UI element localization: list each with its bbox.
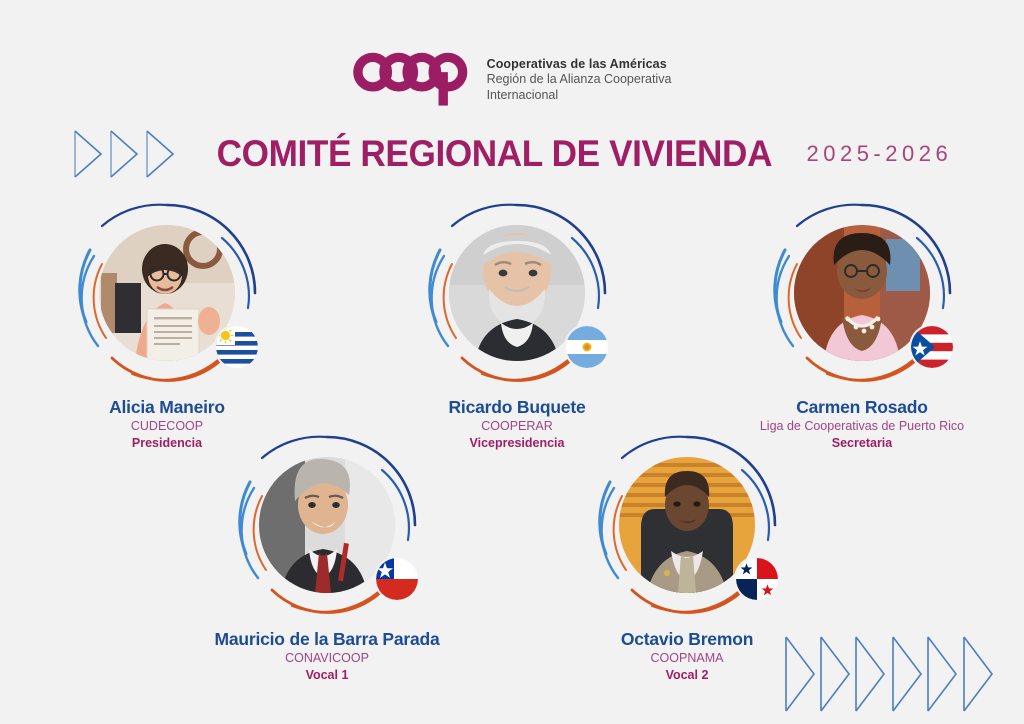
coop-logo: [353, 52, 471, 108]
member-photo: [449, 225, 585, 361]
member-card: Octavio Bremon COOPNAMA Vocal 2: [557, 430, 817, 683]
member-photo: [99, 225, 235, 361]
brand-text: Cooperativas de las Américas Región de l…: [487, 52, 672, 103]
brand-line-2: Región de la Alianza Cooperativa: [487, 72, 672, 87]
member-name: Octavio Bremon: [557, 629, 817, 649]
title-bar: COMITÉ REGIONAL DE VIVIENDA 2025-2026: [0, 126, 1024, 182]
member-org: COOPNAMA: [557, 651, 817, 666]
member-photo: [794, 225, 930, 361]
member-photo-frame: [232, 430, 422, 620]
member-role: Vocal 2: [557, 668, 817, 683]
member-name: Ricardo Buquete: [387, 397, 647, 417]
brand-line-1: Cooperativas de las Américas: [487, 57, 672, 72]
member-card: Mauricio de la Barra Parada CONAVICOOP V…: [197, 430, 457, 683]
chevron-group-bottom: [783, 633, 1005, 715]
member-role: Vocal 1: [197, 668, 457, 683]
flag-uruguay-icon: [216, 326, 258, 368]
member-org: CONAVICOOP: [197, 651, 457, 666]
chevrons-left-icon: [72, 128, 184, 180]
member-photo: [619, 457, 755, 593]
flag-chile-icon: [376, 558, 418, 600]
flag-argentina-icon: [566, 326, 608, 368]
member-name: Alicia Maneiro: [37, 397, 297, 417]
member-card: Ricardo Buquete COOPERAR Vicepresidencia: [387, 198, 647, 451]
page-title: COMITÉ REGIONAL DE VIVIENDA: [216, 133, 771, 175]
member-photo-frame: [422, 198, 612, 388]
flag-panama-icon: [736, 558, 778, 600]
member-name: Carmen Rosado: [732, 397, 992, 417]
member-card: Carmen Rosado Liga de Cooperativas de Pu…: [732, 198, 992, 451]
brand-header: Cooperativas de las Américas Región de l…: [0, 52, 1024, 108]
member-photo: [259, 457, 395, 593]
brand-line-3: Internacional: [487, 88, 672, 103]
member-card: Alicia Maneiro CUDECOOP Presidencia: [37, 198, 297, 451]
member-photo-frame: [72, 198, 262, 388]
member-photo-frame: [767, 198, 957, 388]
poster-canvas: Cooperativas de las Américas Región de l…: [0, 0, 1024, 724]
chevron-group-left: [72, 128, 184, 180]
member-name: Mauricio de la Barra Parada: [197, 629, 457, 649]
flag-puerto-rico-icon: [911, 326, 953, 368]
title-years: 2025-2026: [806, 141, 952, 167]
chevrons-bottom-icon: [783, 633, 1005, 715]
member-photo-frame: [592, 430, 782, 620]
